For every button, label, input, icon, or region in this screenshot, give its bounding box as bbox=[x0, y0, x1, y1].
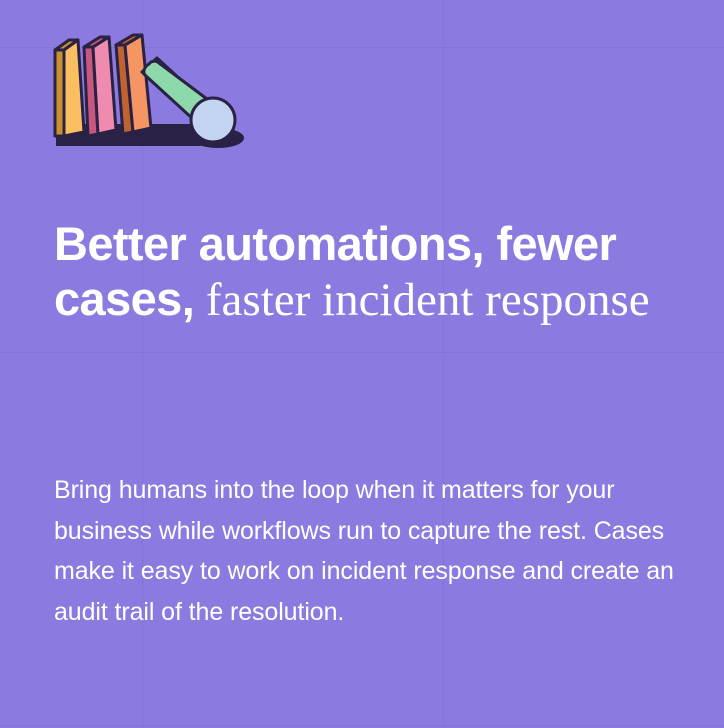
domino-3 bbox=[116, 35, 151, 134]
ball-icon bbox=[191, 98, 235, 142]
hero-section: Better automations, fewer cases, faster … bbox=[0, 0, 724, 728]
domino-2 bbox=[84, 37, 116, 136]
headline-serif: faster incident response bbox=[194, 274, 649, 326]
falling-dominoes-icon bbox=[50, 28, 242, 152]
page-title: Better automations, fewer cases, faster … bbox=[54, 216, 669, 328]
hero-content: Better automations, fewer cases, faster … bbox=[54, 216, 684, 328]
domino-1 bbox=[55, 40, 84, 136]
hero-description: Bring humans into the loop when it matte… bbox=[54, 470, 676, 632]
grid-line-horizontal bbox=[0, 352, 724, 353]
grid-line-horizontal bbox=[0, 725, 724, 726]
